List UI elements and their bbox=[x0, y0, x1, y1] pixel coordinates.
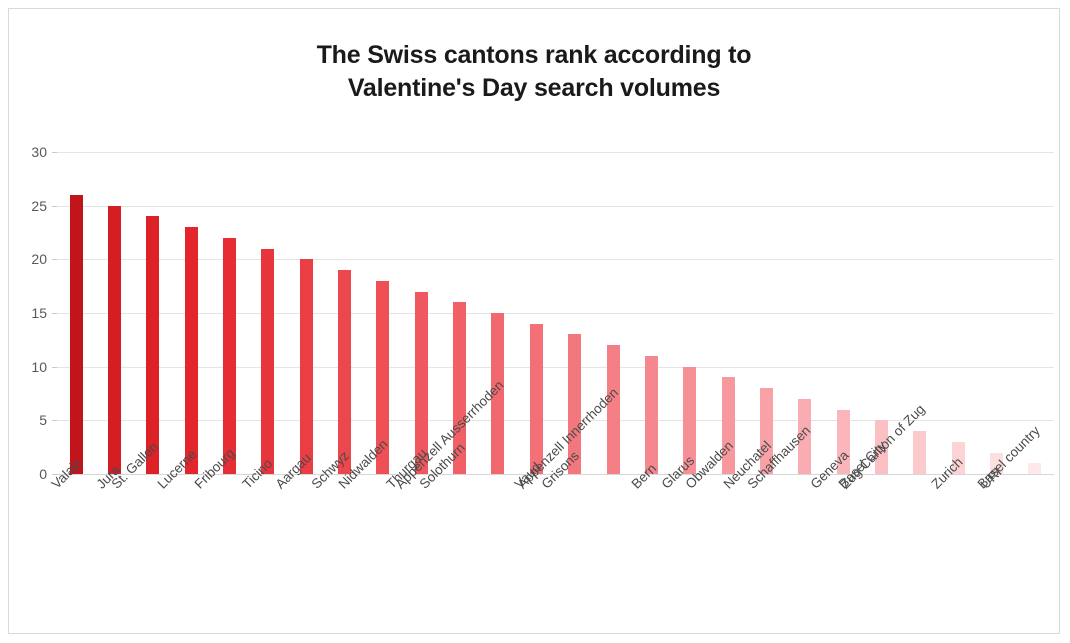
chart-frame: The Swiss cantons rank according to Vale… bbox=[8, 8, 1060, 634]
y-axis-tick-label: 10 bbox=[23, 360, 47, 374]
bar[interactable] bbox=[70, 195, 83, 474]
bar[interactable] bbox=[645, 356, 658, 474]
y-axis-tick-label: 30 bbox=[23, 145, 47, 159]
bar[interactable] bbox=[607, 345, 620, 474]
bar[interactable] bbox=[108, 206, 121, 474]
x-axis: ValaisJuraSt. GallenLucerneFribourgTicin… bbox=[57, 475, 1054, 595]
bar[interactable] bbox=[913, 431, 926, 474]
bar[interactable] bbox=[146, 216, 159, 474]
y-axis-tick-label: 20 bbox=[23, 252, 47, 266]
gridline bbox=[57, 313, 1054, 314]
gridline bbox=[57, 206, 1054, 207]
chart-title-line-1: The Swiss cantons rank according to bbox=[9, 39, 1059, 72]
gridline bbox=[57, 152, 1054, 153]
gridline bbox=[57, 259, 1054, 260]
bar[interactable] bbox=[261, 249, 274, 474]
bar[interactable] bbox=[530, 324, 543, 474]
chart-screenshot: The Swiss cantons rank according to Vale… bbox=[0, 0, 1070, 643]
gridline bbox=[57, 367, 1054, 368]
bar[interactable] bbox=[300, 259, 313, 474]
y-axis-tick-label: 5 bbox=[23, 413, 47, 427]
chart-title-line-2: Valentine's Day search volumes bbox=[9, 72, 1059, 105]
bar[interactable] bbox=[185, 227, 198, 474]
y-axis-tick-label: 0 bbox=[23, 467, 47, 481]
bar[interactable] bbox=[1028, 463, 1041, 474]
bar[interactable] bbox=[338, 270, 351, 474]
y-axis-tick-label: 25 bbox=[23, 199, 47, 213]
chart-title: The Swiss cantons rank according to Vale… bbox=[9, 39, 1059, 105]
y-axis-tick-label: 15 bbox=[23, 306, 47, 320]
bar[interactable] bbox=[223, 238, 236, 474]
